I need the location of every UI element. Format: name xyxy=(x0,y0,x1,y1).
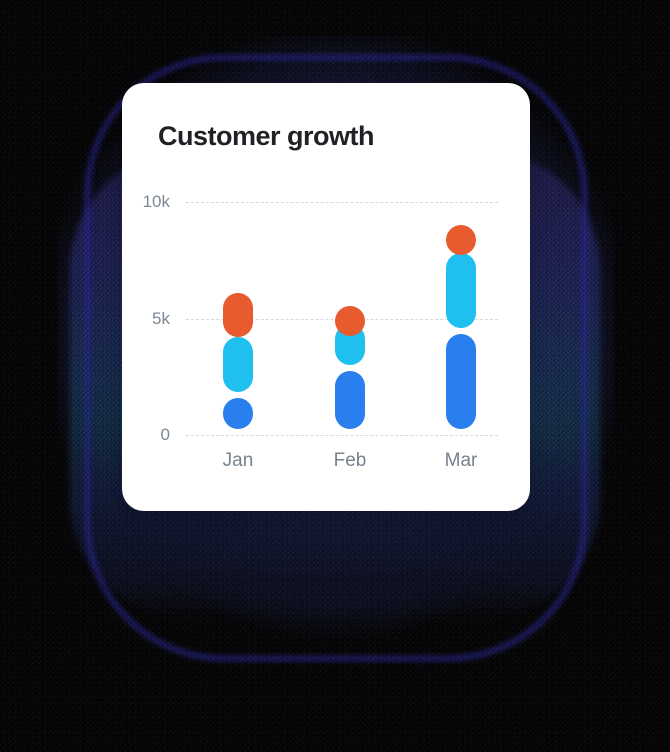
customer-growth-card: Customer growth 05k10k JanFebMar xyxy=(122,83,530,511)
bar-segment-mar-series-2[interactable] xyxy=(446,253,476,327)
chart-plot-area: 05k10k JanFebMar xyxy=(186,202,498,435)
bar-segment-jan-series-3[interactable] xyxy=(223,293,253,337)
x-axis-label-jan: Jan xyxy=(223,450,254,472)
y-axis-tick-label: 0 xyxy=(161,425,170,445)
bar-group-mar[interactable]: Mar xyxy=(446,202,476,435)
bar-segment-jan-series-2[interactable] xyxy=(223,337,253,392)
bar-segment-feb-series-3[interactable] xyxy=(335,306,365,336)
gridline-0 xyxy=(186,435,498,436)
screenshot-stage: Customer growth 05k10k JanFebMar xyxy=(0,0,670,752)
bar-group-jan[interactable]: Jan xyxy=(223,202,253,435)
customer-growth-chart: 05k10k JanFebMar xyxy=(122,83,530,511)
x-axis-label-feb: Feb xyxy=(334,450,367,472)
x-axis-label-mar: Mar xyxy=(445,450,478,472)
y-axis-tick-label: 5k xyxy=(152,309,170,329)
bar-segment-jan-series-1[interactable] xyxy=(223,398,253,429)
chart-bars: JanFebMar xyxy=(186,202,498,435)
bar-segment-feb-series-1[interactable] xyxy=(335,371,365,429)
bar-group-feb[interactable]: Feb xyxy=(335,202,365,435)
bar-segment-mar-series-1[interactable] xyxy=(446,334,476,429)
bar-segment-mar-series-3[interactable] xyxy=(446,225,476,255)
y-axis-tick-label: 10k xyxy=(143,192,170,212)
